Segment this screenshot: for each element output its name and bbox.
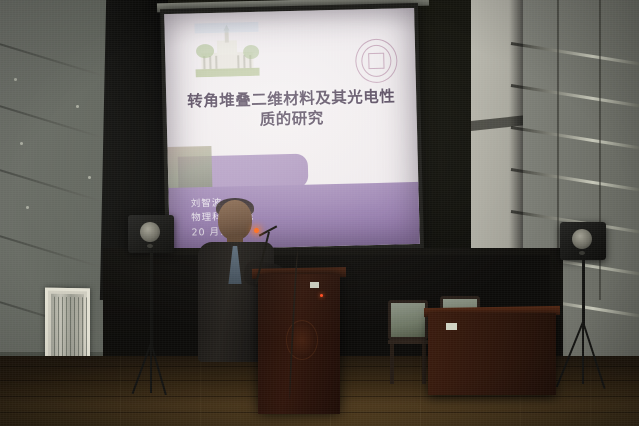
chair-leg: [422, 344, 426, 384]
wooden-podium: [258, 274, 340, 414]
wall-seam: [511, 168, 639, 194]
pa-tripod-leg: [582, 322, 584, 384]
wall-stud: [20, 142, 23, 145]
podium-indicator-led: [320, 294, 323, 297]
wall-stud: [88, 176, 91, 179]
pa-speaker-driver: [572, 229, 592, 249]
pa-speaker-cabinet: [560, 222, 606, 260]
wall-stud: [14, 78, 17, 81]
conference-table: [428, 313, 556, 395]
wall-stud: [76, 105, 79, 108]
presenter-head: [218, 200, 252, 240]
chair-leg: [390, 344, 394, 384]
pa-speaker-driver: [140, 222, 160, 242]
slide-photo-thumbnail: [167, 146, 212, 193]
pa-speaker-pole: [150, 253, 153, 349]
chair-backrest: [388, 300, 428, 340]
slide-title: 转角堆叠二维材料及其光电性 质的研究: [180, 86, 403, 132]
pa-speaker-tweeter: [147, 244, 153, 248]
university-seal-emblem-icon: [355, 38, 398, 83]
wall-seam: [511, 42, 639, 68]
pa-speaker-pole: [582, 260, 585, 326]
pa-tripod-leg: [150, 343, 152, 393]
pa-speaker-cabinet: [128, 215, 174, 253]
wall-seam: [511, 126, 639, 152]
table-label-card: [446, 323, 457, 330]
microphone-led-icon: [254, 228, 259, 233]
wall-stud: [26, 206, 29, 209]
campus-building-watercolor-icon: [194, 22, 259, 78]
wall-seam: [511, 84, 639, 110]
podium-label-card: [310, 282, 319, 288]
pa-speaker-tweeter: [579, 251, 585, 255]
lecture-hall-scene: 转角堆叠二维材料及其光电性 质的研究 刘智波 物理科学学院 20 月18日: [0, 0, 639, 426]
